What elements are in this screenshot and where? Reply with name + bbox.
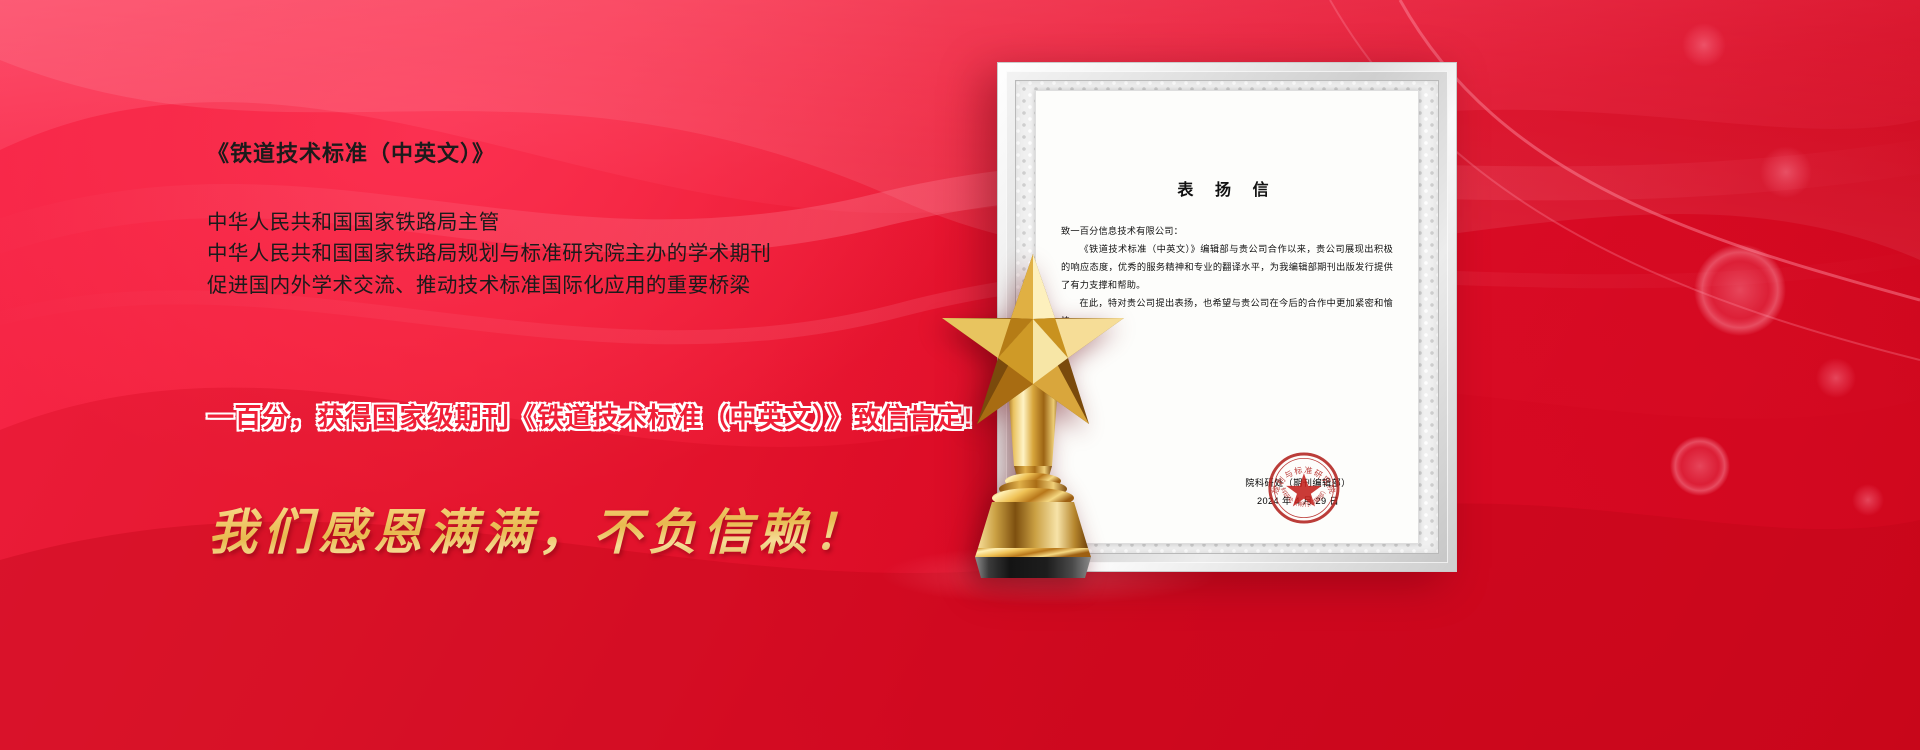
description-line-3: 促进国内外学术交流、推动技术标准国际化应用的重要桥梁 <box>207 270 987 302</box>
headline-text: 一百分，获得国家级期刊《铁道技术标准（中英文）》致信肯定! <box>207 396 973 435</box>
journal-title: 《铁道技术标准（中英文）》 <box>207 140 987 169</box>
letter-signature-block: 规划与标准研究院 科研处（期刊编辑部） 院科研处（期刊编辑部） 2024 年 4… <box>1203 475 1393 510</box>
description-line-1: 中华人民共和国国家铁路局主管 <box>207 207 987 239</box>
letter-title: 表 扬 信 <box>1061 176 1393 200</box>
promo-banner: 《铁道技术标准（中英文）》 中华人民共和国国家铁路局主管 中华人民共和国国家铁路… <box>0 0 1920 750</box>
slogan-calligraphy: 我们感恩满满，不负信赖！ <box>208 493 868 564</box>
banner-copy: 《铁道技术标准（中英文）》 中华人民共和国国家铁路局主管 中华人民共和国国家铁路… <box>207 140 987 302</box>
description-line-2: 中华人民共和国国家铁路局规划与标准研究院主办的学术期刊 <box>207 238 987 270</box>
gold-star-trophy-icon <box>928 248 1138 578</box>
official-seal-icon: 规划与标准研究院 科研处（期刊编辑部） <box>1267 451 1341 525</box>
letter-salutation: 致一百分信息技术有限公司： <box>1061 223 1393 241</box>
